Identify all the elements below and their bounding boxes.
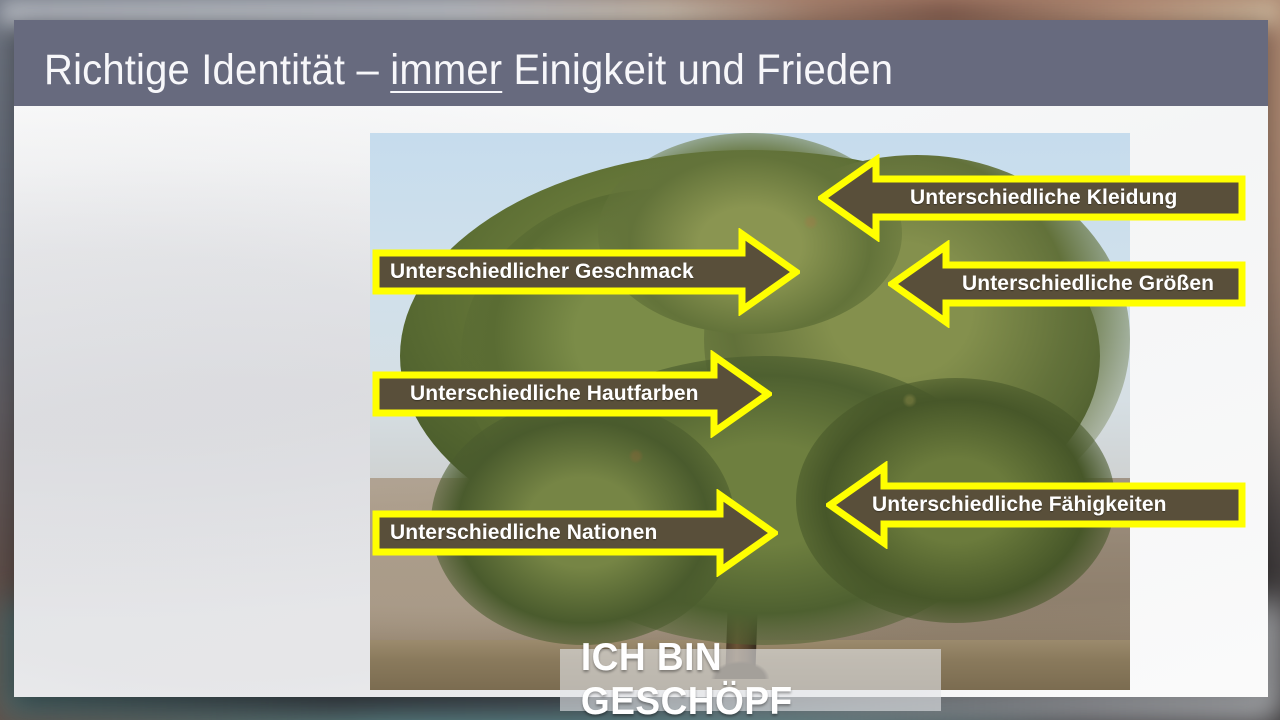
callout-arrow-groessen[interactable]: Unterschiedliche Größen	[888, 240, 1246, 328]
callout-arrow-hautfarben[interactable]: Unterschiedliche Hautfarben	[372, 350, 772, 438]
callout-label: Unterschiedliche Hautfarben	[410, 382, 699, 406]
callout-label: Unterschiedliche Nationen	[390, 521, 657, 545]
callout-label: Unterschiedliche Kleidung	[910, 186, 1177, 210]
title-emphasis-immer: immer	[390, 46, 502, 94]
callout-arrow-nationen[interactable]: Unterschiedliche Nationen	[372, 489, 778, 577]
title-part-after: Einigkeit und Frieden	[502, 46, 893, 94]
callout-label: Unterschiedliche Größen	[962, 272, 1214, 296]
presentation-stage: Richtige Identität – immer Einigkeit und…	[0, 0, 1280, 720]
callout-label: Unterschiedlicher Geschmack	[390, 260, 694, 284]
callout-arrow-geschmack[interactable]: Unterschiedlicher Geschmack	[372, 228, 800, 316]
callout-arrow-faehigkeiten[interactable]: Unterschiedliche Fähigkeiten	[826, 461, 1246, 549]
photo-caption-band: ICH BIN GESCHÖPF	[560, 649, 941, 711]
callout-label: Unterschiedliche Fähigkeiten	[872, 493, 1167, 517]
slide-title-bar: Richtige Identität – immer Einigkeit und…	[14, 20, 1268, 106]
slide-title: Richtige Identität – immer Einigkeit und…	[44, 47, 893, 93]
photo-caption-text: ICH BIN GESCHÖPF	[560, 636, 922, 720]
callout-arrow-kleidung[interactable]: Unterschiedliche Kleidung	[818, 154, 1246, 242]
title-part-before: Richtige Identität –	[44, 46, 390, 94]
